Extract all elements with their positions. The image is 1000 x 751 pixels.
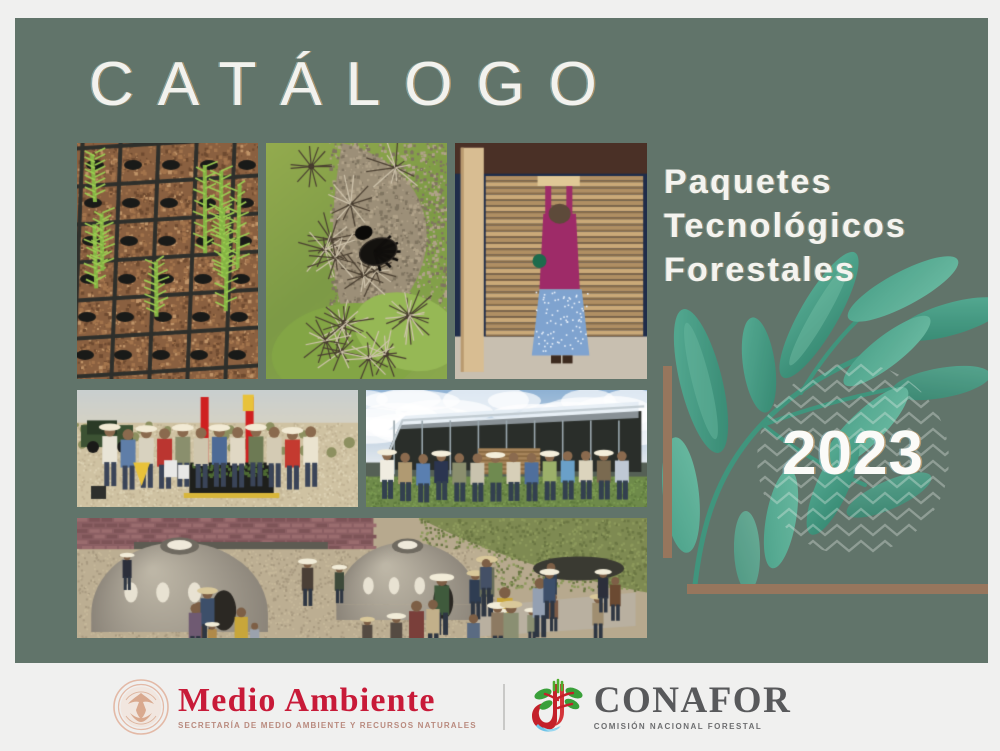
photo-collage <box>62 143 647 633</box>
semarnat-subtitle: SECRETARÍA DE MEDIO AMBIENTE Y RECURSOS … <box>178 720 477 732</box>
subtitle-line-3: Forestales <box>664 248 988 292</box>
semarnat-title: Medio Ambiente <box>178 683 477 719</box>
cover-page: CATÁLOGO <box>0 0 1000 751</box>
cover-panel: CATÁLOGO <box>15 18 988 663</box>
conafor-subtitle: COMISIÓN NACIONAL FORESTAL <box>594 721 792 733</box>
subtitle-line-1: Paquetes <box>664 160 988 204</box>
photo-group-greenhouse <box>366 390 647 507</box>
cover-subtitle: Paquetes Tecnológicos Forestales <box>664 160 988 292</box>
subtitle-line-2: Tecnológicos <box>664 204 988 248</box>
photo-woman-stacking-timber <box>455 143 647 379</box>
cover-year: 2023 <box>757 423 949 485</box>
footer-logo-bar: Medio Ambiente SECRETARÍA DE MEDIO AMBIE… <box>0 663 1000 751</box>
horizontal-accent-bar <box>687 584 988 594</box>
semarnat-wordmark: Medio Ambiente SECRETARÍA DE MEDIO AMBIE… <box>178 683 477 732</box>
mexican-eagle-seal-icon <box>112 678 170 736</box>
page-title: CATÁLOGO <box>89 54 621 116</box>
photo-nursery-seedlings <box>77 143 258 379</box>
conafor-tree-mark-icon <box>527 678 589 736</box>
logo-row: Medio Ambiente SECRETARÍA DE MEDIO AMBIE… <box>112 677 791 737</box>
logo-divider <box>503 684 505 730</box>
photo-charcoal-kilns-demo <box>77 518 647 638</box>
conafor-wordmark: CONAFOR COMISIÓN NACIONAL FORESTAL <box>594 682 792 733</box>
vertical-accent-bar <box>663 366 672 558</box>
conafor-title: CONAFOR <box>594 682 792 720</box>
photo-cactus-beetle <box>266 143 447 379</box>
photo-group-planting-equipment <box>77 390 358 507</box>
